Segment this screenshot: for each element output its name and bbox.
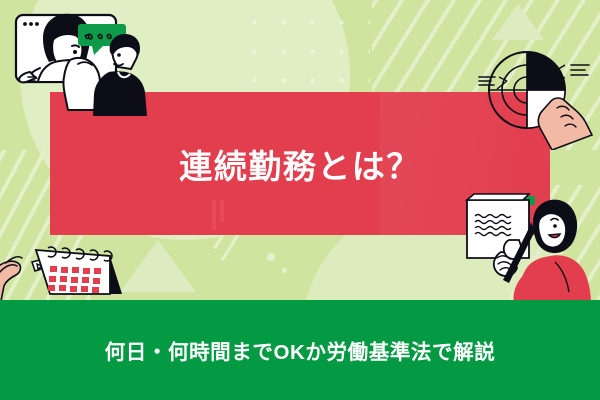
background-triangle-center (120, 240, 196, 292)
page-subtitle: 何日・何時間までOKか労働基準法で解説 (0, 300, 600, 400)
background-dot-large (267, 253, 275, 261)
background-dot-small (282, 268, 287, 273)
desk-calendar-illustration (0, 228, 127, 308)
banner-canvas: 連続勤務とは？ 何日・何時間までOKか労働基準法で解説 (0, 0, 600, 400)
page-title: 連続勤務とは？ (50, 92, 550, 235)
